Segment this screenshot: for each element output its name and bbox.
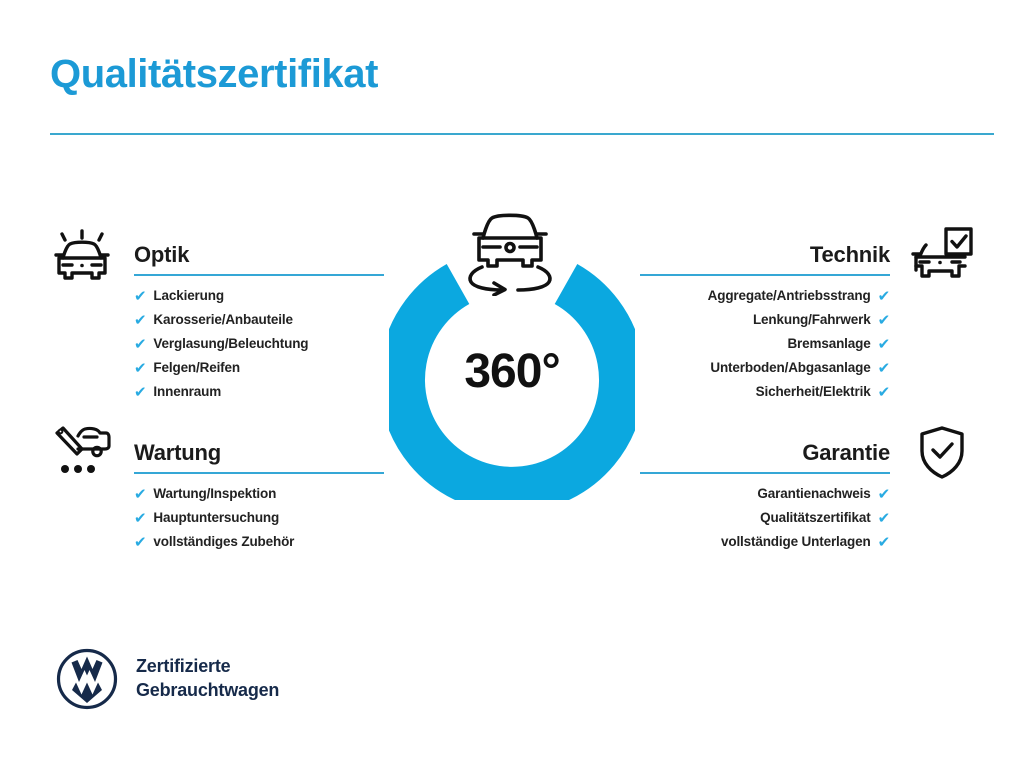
check-icon: ✔ [878,313,890,328]
section-garantie: Garantie Garantienachweis ✔ Qualitätszer… [604,430,974,474]
list-item: vollständige Unterlagen ✔ [604,530,890,554]
check-icon: ✔ [878,289,890,304]
section-title-wartung: Wartung [134,440,221,466]
check-icon: ✔ [878,337,890,352]
check-icon: ✔ [878,487,890,502]
list-item-label: Sicherheit/Elektrik [756,385,871,399]
check-icon: ✔ [878,361,890,376]
list-item-label: Lackierung [153,289,224,303]
list-item-label: Verglasung/Beleuchtung [153,337,308,351]
list-item-label: Qualitätszertifikat [760,511,870,525]
section-underline [640,472,890,474]
list-item: ✔ vollständiges Zubehör [134,530,420,554]
check-icon: ✔ [878,535,890,550]
check-icon: ✔ [878,511,890,526]
check-icon: ✔ [134,313,146,328]
list-item-label: Aggregate/Antriebsstrang [708,289,871,303]
list-item-label: Garantienachweis [757,487,870,501]
section-title-technik: Technik [810,242,890,268]
list-item-label: Bremsanlage [787,337,870,351]
section-title-optik: Optik [134,242,189,268]
check-icon: ✔ [134,361,146,376]
section-optik: Optik ✔ Lackierung ✔ Karosserie/Anbautei… [50,232,420,276]
check-icon: ✔ [134,535,146,550]
list-item-label: Hauptuntersuchung [153,511,279,525]
footer-line-2: Gebrauchtwagen [136,679,279,703]
list-item-label: Karosserie/Anbauteile [153,313,292,327]
check-icon: ✔ [134,487,146,502]
certificate-page: Qualitätszertifikat Optik ✔ [0,0,1024,768]
section-underline [134,472,384,474]
check-icon: ✔ [878,385,890,400]
check-icon: ✔ [134,385,146,400]
list-item-label: Innenraum [153,385,221,399]
section-wartung: Wartung ✔ Wartung/Inspektion ✔ Hauptunte… [50,430,420,474]
footer-brand: Zertifizierte Gebrauchtwagen [56,648,279,710]
section-technik: Technik Aggregate/Antriebsstrang ✔ Lenku… [604,232,974,276]
list-item-label: vollständige Unterlagen [721,535,871,549]
list-item-label: Felgen/Reifen [153,361,240,375]
check-icon: ✔ [134,511,146,526]
section-underline [640,274,890,276]
check-icon: ✔ [134,289,146,304]
badge-360-gebrauchtwagen-check: Gebrauchtwagen-Check 360° [374,196,650,496]
list-item-label: Lenkung/Fahrwerk [753,313,871,327]
header-divider [50,133,994,135]
vw-logo-icon [56,648,118,710]
list-item: ✔ Hauptuntersuchung [134,506,420,530]
section-underline [134,274,384,276]
footer-text: Zertifizierte Gebrauchtwagen [136,655,279,703]
section-title-garantie: Garantie [802,440,890,466]
list-item-label: Unterboden/Abgasanlage [710,361,870,375]
check-icon: ✔ [134,337,146,352]
list-item-label: vollständiges Zubehör [153,535,294,549]
list-item: Qualitätszertifikat ✔ [604,506,890,530]
list-item-label: Wartung/Inspektion [153,487,276,501]
footer-line-1: Zertifizierte [136,655,279,679]
page-title: Qualitätszertifikat [50,52,378,96]
badge-number-360: 360° [374,344,650,399]
